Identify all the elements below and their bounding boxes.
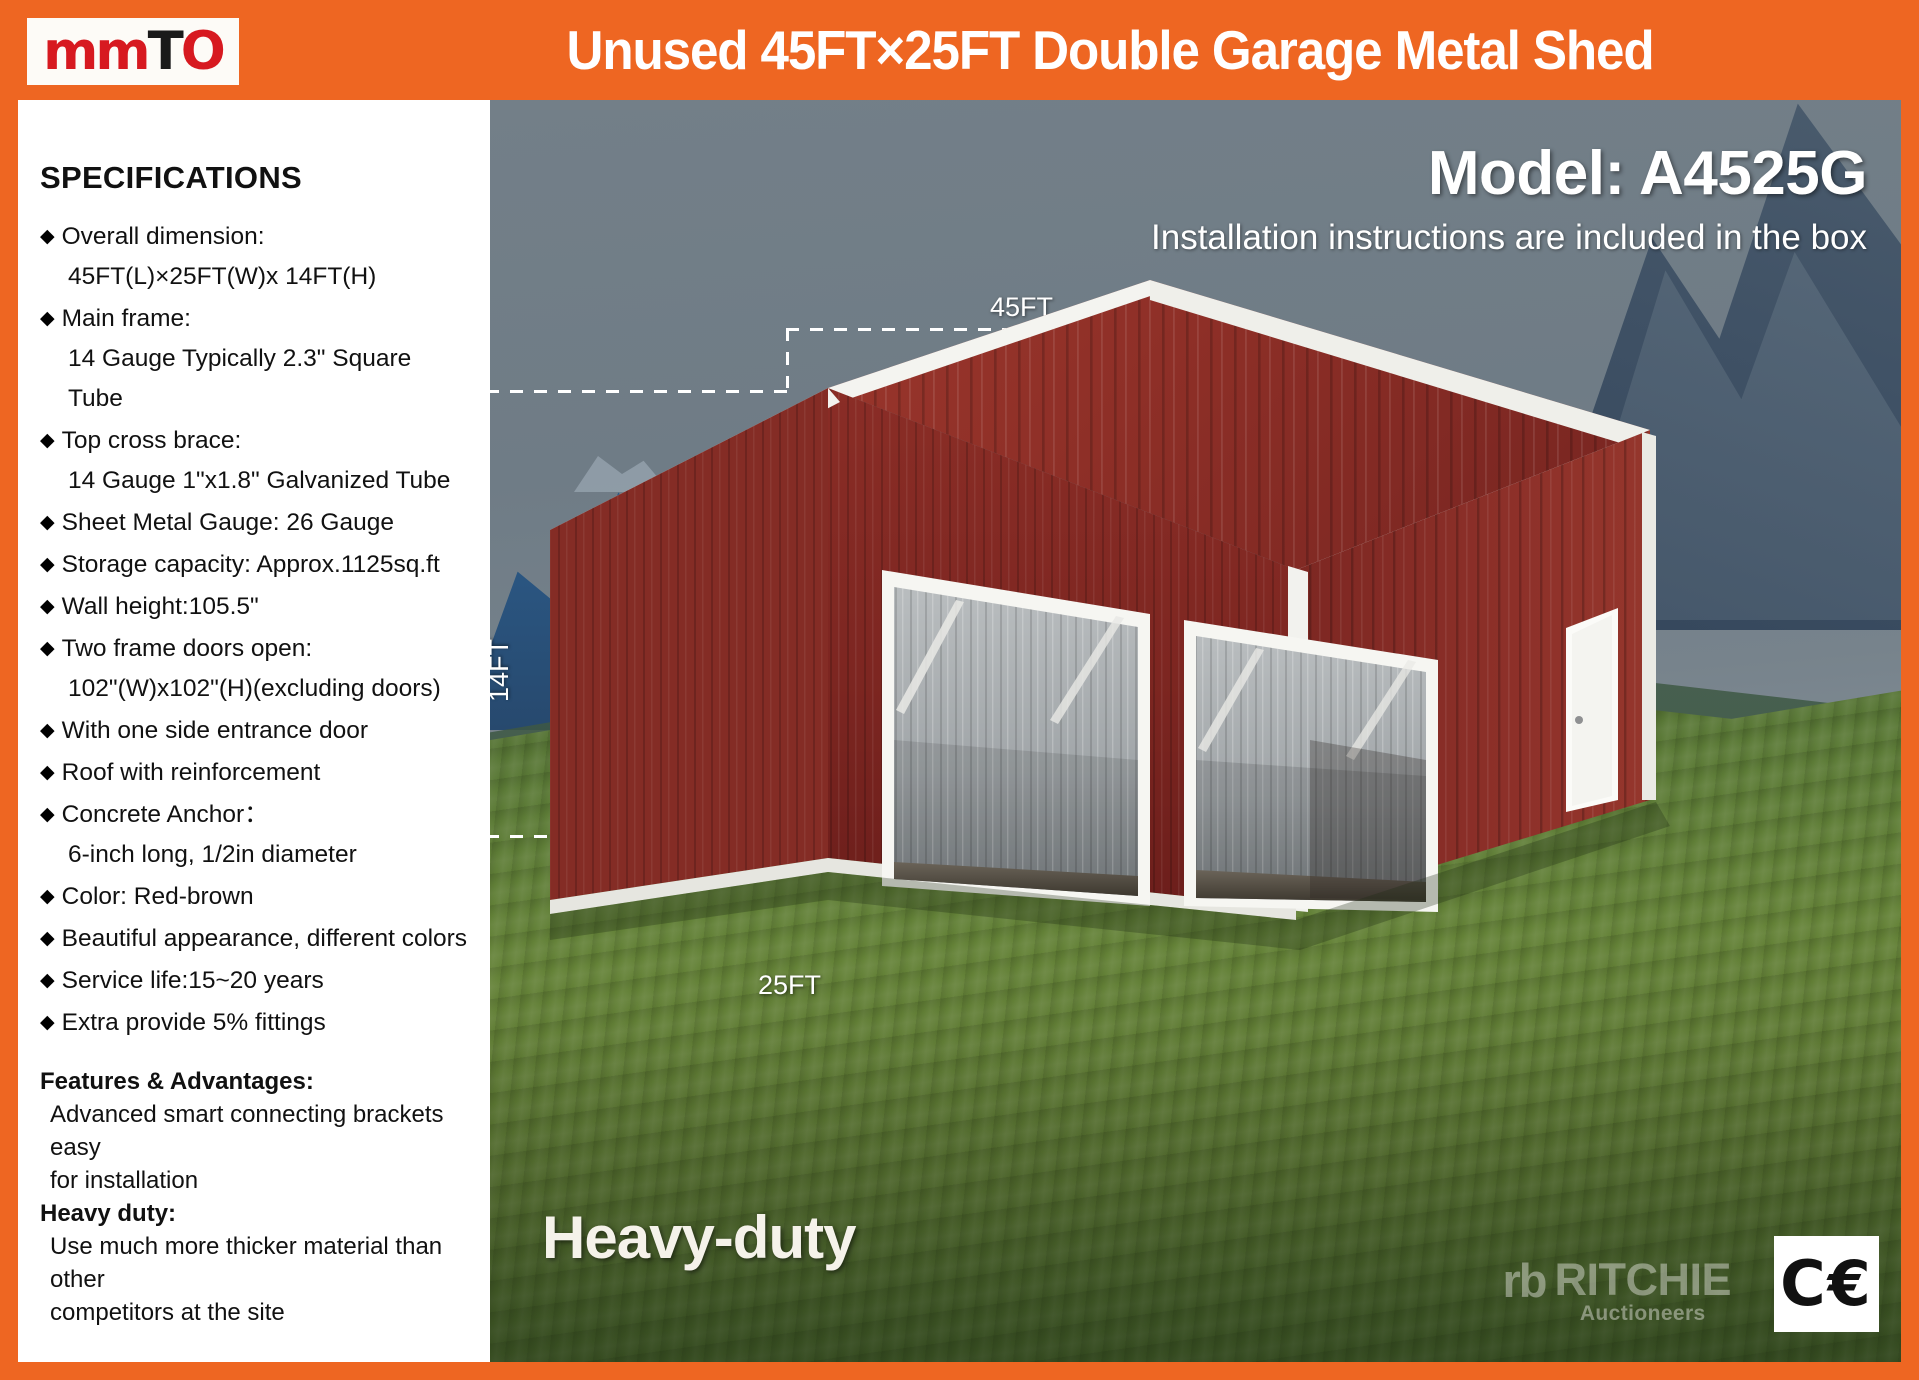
spec-item-row: ◆Beautiful appearance, different colors [40,919,472,959]
spec-item-label: Color: Red-brown [62,877,254,917]
spec-item-detail: 14 Gauge 1"x1.8" Galvanized Tube [40,461,472,501]
spec-item: ◆Storage capacity: Approx.1125sq.ft [40,545,472,585]
specifications-panel: SPECIFICATIONS ◆Overall dimension:45FT(L… [18,100,490,1362]
spec-item-label: Top cross brace: [62,421,242,461]
diamond-bullet-icon: ◆ [40,919,55,959]
installation-note: Installation instructions are included i… [1151,215,1867,261]
spec-item-label: With one side entrance door [62,711,368,751]
spec-item: ◆Wall height:105.5" [40,587,472,627]
spec-item-label: Extra provide 5% fittings [62,1003,326,1043]
mito-logo: mmTO [27,18,239,85]
logo-letter-m: m [43,21,95,82]
spec-item-detail: 14 Gauge Typically 2.3" Square Tube [40,339,472,419]
diamond-bullet-icon: ◆ [40,503,55,543]
spec-item-row: ◆Wall height:105.5" [40,587,472,627]
heavy-duty-body-line-2: competitors at the site [40,1296,472,1329]
spec-item-label: Concrete Anchor： [62,795,269,835]
side-entrance-door [1572,615,1612,806]
door-handle [1575,716,1583,724]
product-photo: 45FT 25FT 14FT [490,100,1901,1362]
spec-item-detail: 6-inch long, 1/2in diameter [40,835,472,875]
spec-item: ◆Beautiful appearance, different colors [40,919,472,959]
diamond-bullet-icon: ◆ [40,877,55,917]
spec-item-label: Wall height:105.5" [62,587,259,627]
spec-item-label: Sheet Metal Gauge: 26 Gauge [62,503,394,543]
logo-letter-o: O [181,21,223,82]
specifications-heading: SPECIFICATIONS [40,160,472,196]
spec-item: ◆Main frame:14 Gauge Typically 2.3" Squa… [40,299,472,419]
features-heading: Features & Advantages: [40,1065,472,1098]
spec-item-row: ◆With one side entrance door [40,711,472,751]
spec-item-label: Main frame: [62,299,191,339]
metal-shed-illustration [490,100,1901,1362]
spec-item: ◆With one side entrance door [40,711,472,751]
spec-item-row: ◆Overall dimension: [40,217,472,257]
spec-item: ◆Concrete Anchor：6-inch long, 1/2in diam… [40,795,472,875]
spec-item: ◆Color: Red-brown [40,877,472,917]
spec-item-row: ◆Color: Red-brown [40,877,472,917]
spec-item: ◆Extra provide 5% fittings [40,1003,472,1043]
diamond-bullet-icon: ◆ [40,421,55,461]
diamond-bullet-icon: ◆ [40,753,55,793]
spec-item-row: ◆Roof with reinforcement [40,753,472,793]
spec-item-row: ◆Storage capacity: Approx.1125sq.ft [40,545,472,585]
mito-logo-text: mmTO [43,25,223,78]
spec-item-label: Storage capacity: Approx.1125sq.ft [62,545,440,585]
diamond-bullet-icon: ◆ [40,711,55,751]
diamond-bullet-icon: ◆ [40,545,55,585]
spec-item-detail: 102"(W)x102"(H)(excluding doors) [40,669,472,709]
spec-item-row: ◆Two frame doors open: [40,629,472,669]
spec-item: ◆Overall dimension:45FT(L)×25FT(W)x 14FT… [40,217,472,297]
garage-deep-shadow [1310,740,1426,900]
heavy-duty-heading: Heavy duty: [40,1197,472,1230]
diamond-bullet-icon: ◆ [40,795,55,835]
spec-item-row: ◆Main frame: [40,299,472,339]
heavy-duty-body-line-1: Use much more thicker material than othe… [40,1230,472,1296]
features-advantages-block: Features & Advantages: Advanced smart co… [40,1065,472,1329]
spec-item: ◆Sheet Metal Gauge: 26 Gauge [40,503,472,543]
diamond-bullet-icon: ◆ [40,299,55,339]
page-title: Unused 45FT×25FT Double Garage Metal She… [385,14,1836,86]
header-bar: mmTO Unused 45FT×25FT Double Garage Meta… [0,0,1919,100]
spec-item-label: Service life:15~20 years [62,961,324,1001]
spec-item-row: ◆Service life:15~20 years [40,961,472,1001]
spec-item: ◆Two frame doors open:102"(W)x102"(H)(ex… [40,629,472,709]
spec-item: ◆Service life:15~20 years [40,961,472,1001]
ce-mark-text: C€ [1780,1253,1873,1315]
spec-item-label: Overall dimension: [62,217,265,257]
spec-item-row: ◆Concrete Anchor： [40,795,472,835]
diamond-bullet-icon: ◆ [40,629,55,669]
spec-item-row: ◆Top cross brace: [40,421,472,461]
left-end-wall-shade [550,388,828,900]
heavy-duty-label: Heavy-duty [542,1203,855,1272]
far-corner-trim [1642,432,1656,800]
model-label: Model: A4525G [1428,138,1867,210]
diamond-bullet-icon: ◆ [40,587,55,627]
spec-item-label: Roof with reinforcement [62,753,321,793]
logo-letter-t: T [148,21,181,82]
spec-item: ◆Roof with reinforcement [40,753,472,793]
advertisement-page: mmTO Unused 45FT×25FT Double Garage Meta… [0,0,1919,1380]
ce-mark-badge: C€ [1774,1236,1879,1332]
logo-letter-m2: m [95,21,147,82]
spec-item-label: Beautiful appearance, different colors [62,919,467,959]
spec-item-label: Two frame doors open: [62,629,313,669]
diamond-bullet-icon: ◆ [40,1003,55,1043]
features-body-line-2: for installation [40,1164,472,1197]
spec-item-row: ◆Sheet Metal Gauge: 26 Gauge [40,503,472,543]
spec-item: ◆Top cross brace:14 Gauge 1"x1.8" Galvan… [40,421,472,501]
features-body-line-1: Advanced smart connecting brackets easy [40,1098,472,1164]
diamond-bullet-icon: ◆ [40,217,55,257]
spec-item-row: ◆Extra provide 5% fittings [40,1003,472,1043]
spec-item-detail: 45FT(L)×25FT(W)x 14FT(H) [40,257,472,297]
specifications-list: ◆Overall dimension:45FT(L)×25FT(W)x 14FT… [40,217,472,1043]
diamond-bullet-icon: ◆ [40,961,55,1001]
